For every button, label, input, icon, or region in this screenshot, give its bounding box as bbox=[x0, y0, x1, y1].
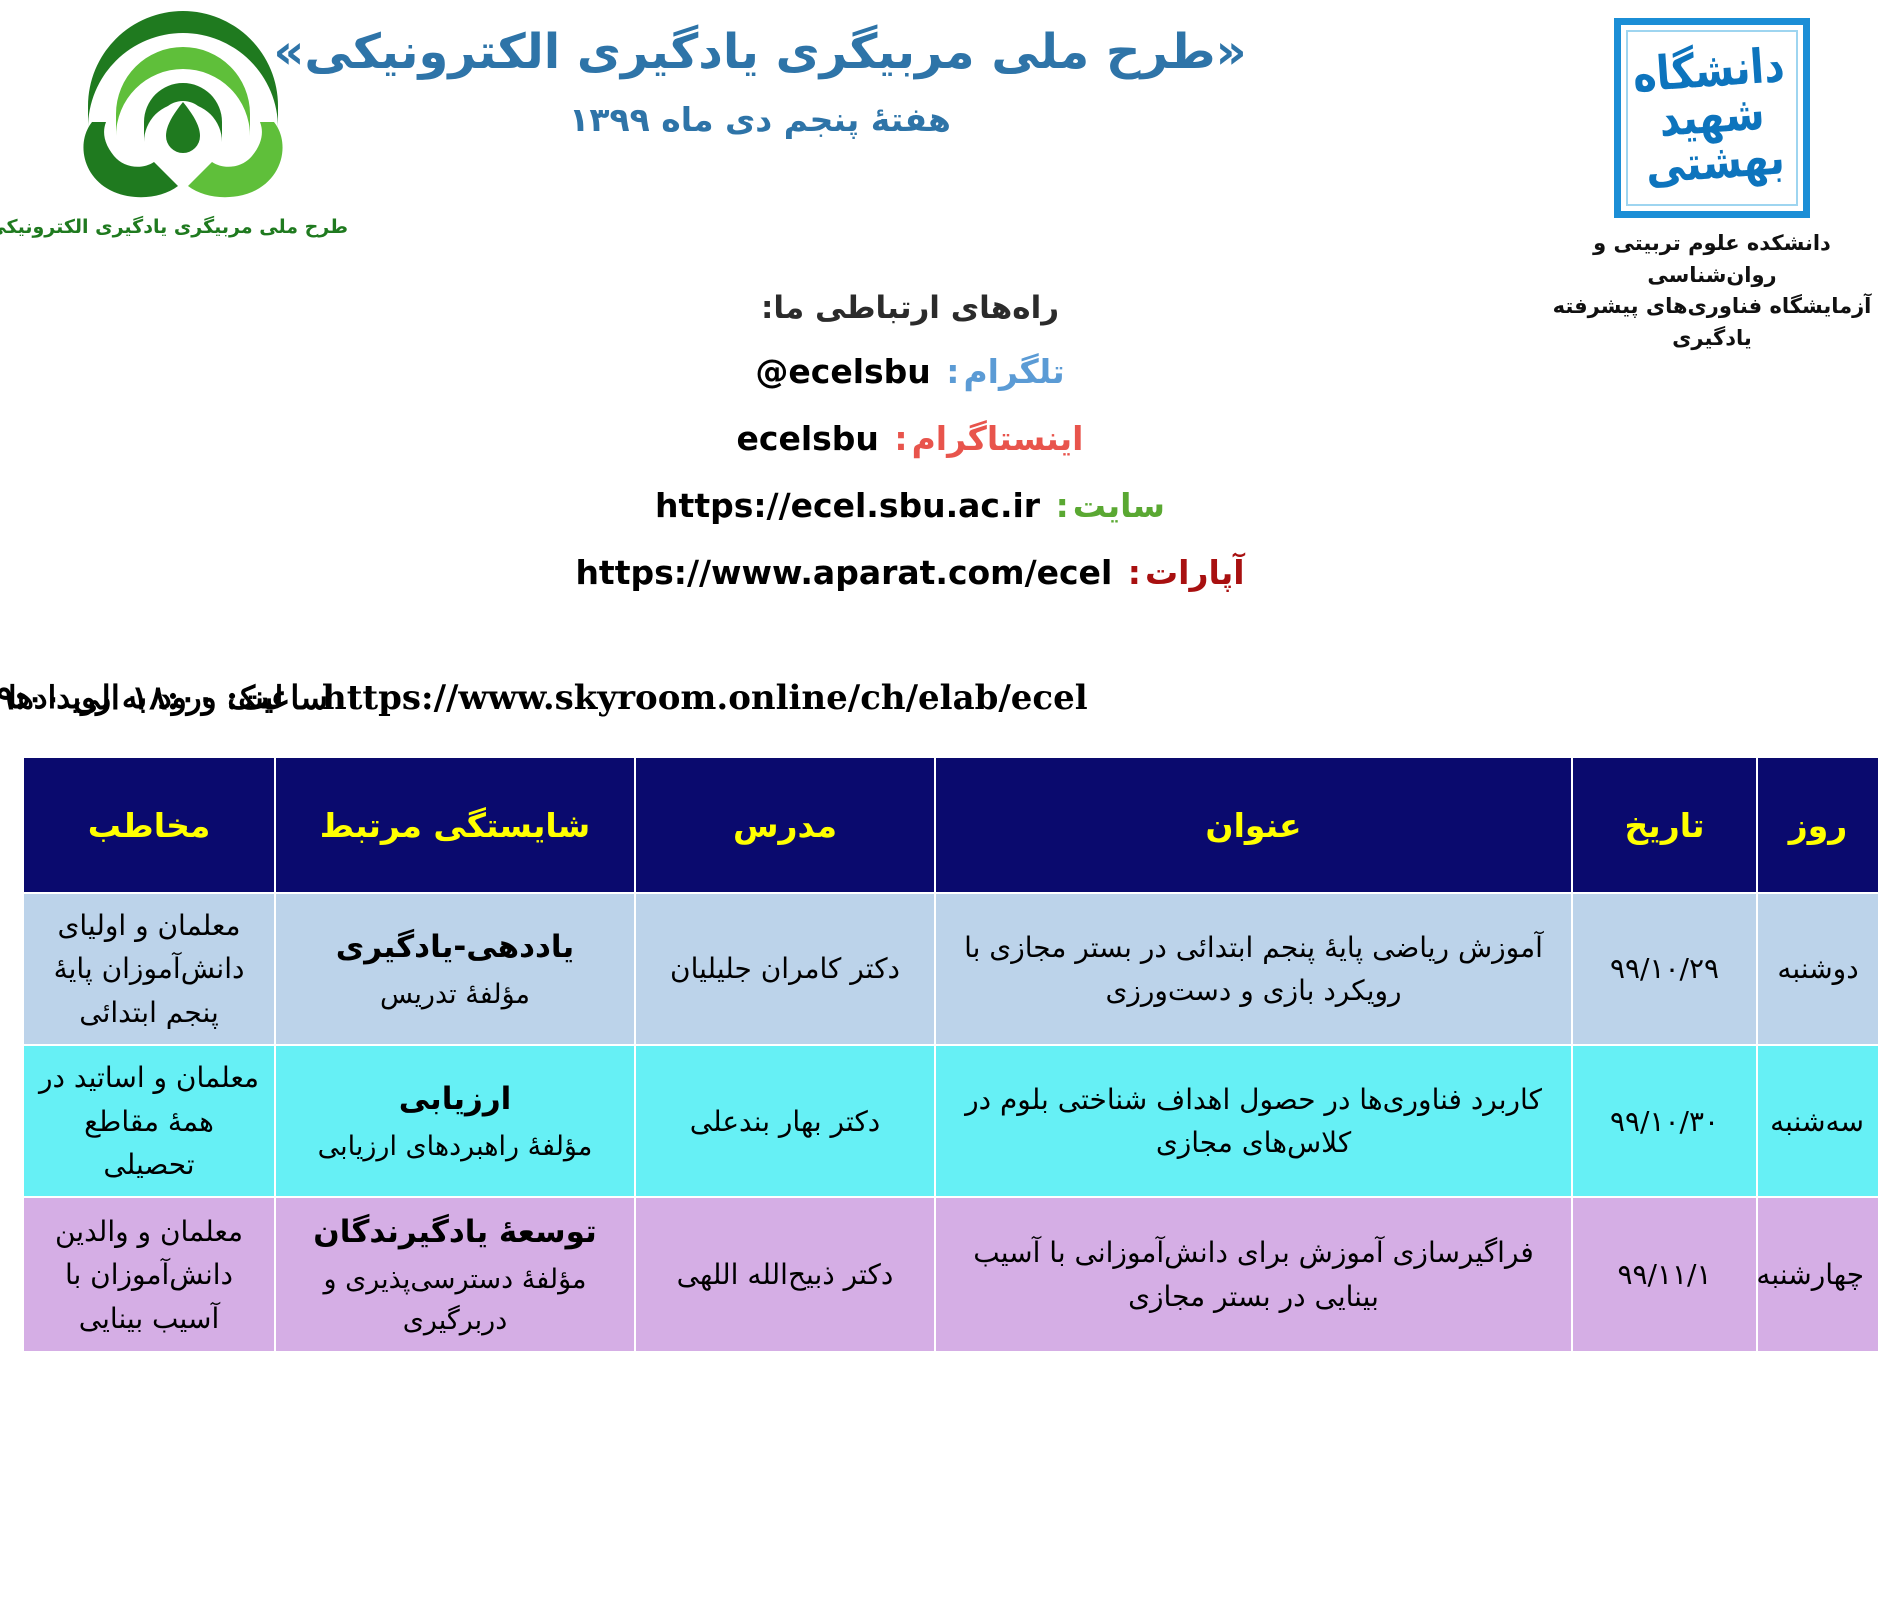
schedule-table: روز تاریخ عنوان مدرس شایستگی مرتبط مخاطب… bbox=[22, 756, 1880, 1353]
cell-title: آموزش ریاضی پایهٔ پنجم ابتدائی در بستر م… bbox=[935, 893, 1572, 1045]
contact-row-aparat: آپارات: https://www.aparat.com/ecel bbox=[0, 553, 1900, 592]
contact-label-instagram: اینستاگرام bbox=[912, 419, 1084, 458]
competency-sub: مؤلفهٔ دسترسی‌پذیری و دربرگیری bbox=[290, 1260, 620, 1341]
contact-value-website[interactable]: https://ecel.sbu.ac.ir bbox=[655, 486, 1040, 525]
column-header-audience: مخاطب bbox=[23, 757, 275, 893]
cell-competency: توسعهٔ یادگیرندگان مؤلفهٔ دسترسی‌پذیری و… bbox=[275, 1197, 635, 1352]
contact-row-instagram: اینستاگرام: ecelsbu bbox=[0, 419, 1900, 458]
schedule-table-body: دوشنبه ۹۹/۱۰/۲۹ آموزش ریاضی پایهٔ پنجم ا… bbox=[23, 893, 1879, 1352]
contact-separator-telegram: : bbox=[946, 352, 959, 391]
competency-main: توسعهٔ یادگیرندگان bbox=[290, 1208, 620, 1256]
cell-date: ۹۹/۱۰/۲۹ bbox=[1572, 893, 1757, 1045]
contact-label-website: سایت bbox=[1073, 486, 1165, 525]
ecel-logo-caption: طرح ملی مربیگری یادگیری الکترونیکی bbox=[18, 216, 348, 238]
cell-date: ۹۹/۱۰/۳۰ bbox=[1572, 1045, 1757, 1197]
logo-calligraphy: دانشگاه شهید بهشتی bbox=[1631, 44, 1792, 193]
contact-row-website: سایت: https://ecel.sbu.ac.ir bbox=[0, 486, 1900, 525]
table-row: چهارشنبه ۹۹/۱۱/۱ فراگیرسازی آموزش برای د… bbox=[23, 1197, 1879, 1352]
cell-competency: ارزیابی مؤلفهٔ راهبردهای ارزیابی bbox=[275, 1045, 635, 1197]
column-header-title: عنوان bbox=[935, 757, 1572, 893]
contact-separator-aparat: : bbox=[1128, 553, 1141, 592]
contact-value-aparat[interactable]: https://www.aparat.com/ecel bbox=[575, 553, 1112, 592]
ecel-brand-block: طرح ملی مربیگری یادگیری الکترونیکی bbox=[18, 10, 348, 238]
ecel-logo-icon bbox=[58, 10, 308, 210]
contact-label-aparat: آپارات bbox=[1145, 553, 1245, 592]
competency-sub: مؤلفهٔ راهبردهای ارزیابی bbox=[290, 1127, 620, 1168]
event-link-label: لینک ورود به رویدادها bbox=[8, 680, 283, 716]
contact-label-telegram: تلگرام bbox=[964, 352, 1065, 391]
cell-title: کاربرد فناوری‌ها در حصول اهداف شناختی بل… bbox=[935, 1045, 1572, 1197]
table-row: سه‌شنبه ۹۹/۱۰/۳۰ کاربرد فناوری‌ها در حصو… bbox=[23, 1045, 1879, 1197]
cell-competency: یاددهی-یادگیری مؤلفهٔ تدریس bbox=[275, 893, 635, 1045]
faculty-name-line: دانشکده علوم تربیتی و روان‌شناسی bbox=[1538, 228, 1886, 291]
cell-day: سه‌شنبه bbox=[1757, 1045, 1879, 1197]
shahid-beheshti-university-logo-icon: دانشگاه شهید بهشتی bbox=[1614, 18, 1810, 218]
cell-date: ۹۹/۱۱/۱ bbox=[1572, 1197, 1757, 1352]
cell-instructor: دکتر بهار بندعلی bbox=[635, 1045, 935, 1197]
cell-day: دوشنبه bbox=[1757, 893, 1879, 1045]
column-header-competency: شایستگی مرتبط bbox=[275, 757, 635, 893]
contact-heading: راه‌های ارتباطی ما: bbox=[0, 290, 1900, 326]
poster-header: دانشگاه شهید بهشتی دانشکده علوم تربیتی و… bbox=[0, 0, 1900, 300]
contact-block: راه‌های ارتباطی ما: تلگرام: @ecelsbu این… bbox=[0, 290, 1900, 620]
cell-instructor: دکتر کامران جلیلیان bbox=[635, 893, 935, 1045]
cell-audience: معلمان و والدین دانش‌آموزان با آسیب بینا… bbox=[23, 1197, 275, 1352]
table-header-row: روز تاریخ عنوان مدرس شایستگی مرتبط مخاطب bbox=[23, 757, 1879, 893]
competency-main: یاددهی-یادگیری bbox=[290, 923, 620, 971]
cell-instructor: دکتر ذبیح‌الله اللهی bbox=[635, 1197, 935, 1352]
cell-title: فراگیرسازی آموزش برای دانش‌آموزانی با آس… bbox=[935, 1197, 1572, 1352]
contact-value-telegram[interactable]: @ecelsbu bbox=[755, 352, 930, 391]
logo-inner-frame: دانشگاه شهید بهشتی bbox=[1626, 30, 1798, 206]
contact-separator-website: : bbox=[1056, 486, 1069, 525]
competency-sub: مؤلفهٔ تدریس bbox=[290, 975, 620, 1016]
contact-separator-instagram: : bbox=[894, 419, 907, 458]
contact-row-telegram: تلگرام: @ecelsbu bbox=[0, 352, 1900, 391]
column-header-day: روز bbox=[1757, 757, 1879, 893]
competency-main: ارزیابی bbox=[290, 1075, 620, 1123]
cell-audience: معلمان و اولیای دانش‌آموزان پایهٔ پنجم ا… bbox=[23, 893, 275, 1045]
event-link-url[interactable]: https://www.skyroom.online/ch/elab/ecel bbox=[322, 678, 1088, 718]
event-link-strip: ساعت: ۱۸:۰۰ الی ۱۹:۰۰ لینک ورود به رویدا… bbox=[0, 678, 1900, 748]
cell-day: چهارشنبه bbox=[1757, 1197, 1879, 1352]
column-header-instructor: مدرس bbox=[635, 757, 935, 893]
cell-audience: معلمان و اساتید در همهٔ مقاطع تحصیلی bbox=[23, 1045, 275, 1197]
column-header-date: تاریخ bbox=[1572, 757, 1757, 893]
contact-value-instagram[interactable]: ecelsbu bbox=[737, 419, 879, 458]
table-row: دوشنبه ۹۹/۱۰/۲۹ آموزش ریاضی پایهٔ پنجم ا… bbox=[23, 893, 1879, 1045]
